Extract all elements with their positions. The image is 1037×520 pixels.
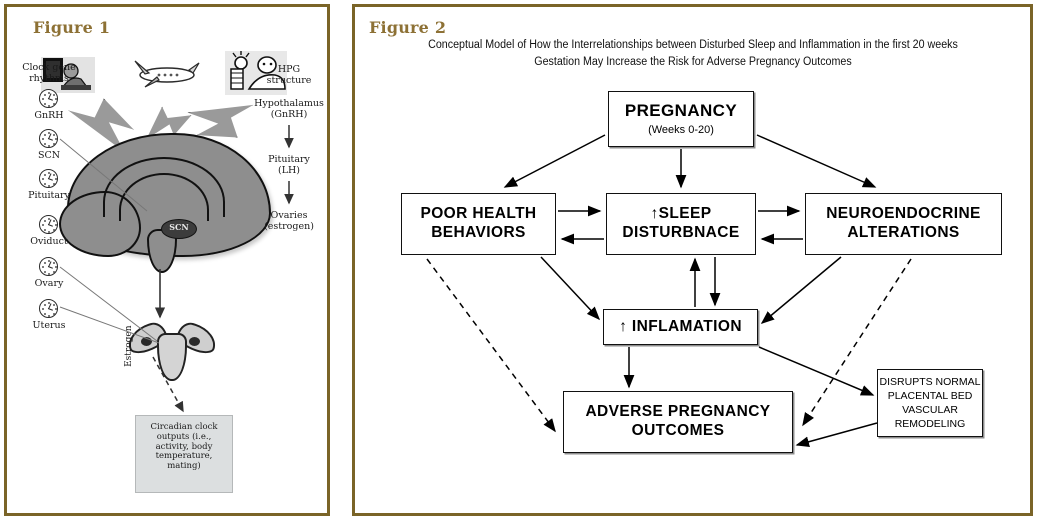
node-neuroendocrine-alterations-label: NEUROENDOCRINE ALTERATIONS [806, 205, 1001, 242]
clock-label-scn: SCN [13, 151, 85, 162]
clock-label-ovary: Ovary [13, 279, 85, 290]
clock-icon [39, 129, 58, 148]
ovary-left [141, 337, 152, 346]
clock-icon [39, 299, 58, 318]
estrogen-label: Estrogen [124, 316, 134, 376]
node-inflammation[interactable]: ↑ INFLAMATION [603, 309, 758, 345]
node-poor-health-behaviors[interactable]: POOR HEALTH BEHAVIORS [401, 193, 556, 255]
node-adverse-pregnancy-outcomes-label: ADVERSE PREGNANCY OUTCOMES [564, 403, 792, 440]
clock-label-uterus: Uterus [13, 321, 85, 332]
scn-marker: SCN [161, 219, 197, 239]
clock-icon [39, 89, 58, 108]
circadian-outputs-text: Circadian clock outputs (i.e., activity,… [136, 416, 232, 472]
clock-icon [39, 169, 58, 188]
figure-1-label: Figure 1 [33, 18, 110, 37]
node-pregnancy-title: PREGNANCY [625, 101, 737, 121]
clock-label-pituitary: Pituitary [13, 191, 85, 202]
clock-label-oviduct: Oviduct [13, 237, 85, 248]
node-disrupts-placental-remodeling-label: DISRUPTS NORMAL PLACENTAL BED VASCULAR R… [878, 375, 982, 432]
node-neuroendocrine-alterations[interactable]: NEUROENDOCRINE ALTERATIONS [805, 193, 1002, 255]
uterus-body [157, 333, 187, 381]
clock-icon [39, 215, 58, 234]
node-sleep-disturbance[interactable]: ↑SLEEP DISTURBNACE [606, 193, 756, 255]
node-poor-health-behaviors-label: POOR HEALTH BEHAVIORS [402, 205, 555, 242]
node-pregnancy[interactable]: PREGNANCY (Weeks 0-20) [608, 91, 754, 147]
node-adverse-pregnancy-outcomes[interactable]: ADVERSE PREGNANCY OUTCOMES [563, 391, 793, 453]
hpg-hypothalamus-line2: (GnRH) [247, 110, 331, 121]
node-inflammation-label: ↑ INFLAMATION [619, 318, 742, 337]
hpg-pituitary-line2: (LH) [247, 166, 331, 177]
node-disrupts-placental-remodeling[interactable]: DISRUPTS NORMAL PLACENTAL BED VASCULAR R… [877, 369, 983, 437]
figure-1-panel: Figure 1 [4, 4, 330, 516]
node-pregnancy-subtitle: (Weeks 0-20) [648, 124, 714, 137]
ovary-right [189, 337, 200, 346]
circadian-outputs-box: Circadian clock outputs (i.e., activity,… [135, 415, 233, 493]
figure-2-panel: Figure 2 Conceptual Model of How the Int… [352, 4, 1033, 516]
clock-label-gnrh: GnRH [13, 111, 85, 122]
figure-2-diagram: Conceptual Model of How the Interrelatio… [355, 7, 1030, 513]
figure-1-illustration: SCN Clock gene rhythms GnRH SCN Pituitar… [7, 41, 327, 481]
clock-gene-heading-line2: rhythms [13, 74, 85, 85]
hpg-heading-line2: structure [251, 76, 327, 87]
hpg-ovaries-line2: (estrogen) [247, 222, 331, 233]
node-sleep-disturbance-label: ↑SLEEP DISTURBNACE [607, 205, 755, 242]
clock-icon [39, 257, 58, 276]
figures-page: Figure 1 [0, 0, 1037, 520]
airplane-icon [129, 55, 201, 91]
scn-marker-label: SCN [162, 220, 196, 235]
